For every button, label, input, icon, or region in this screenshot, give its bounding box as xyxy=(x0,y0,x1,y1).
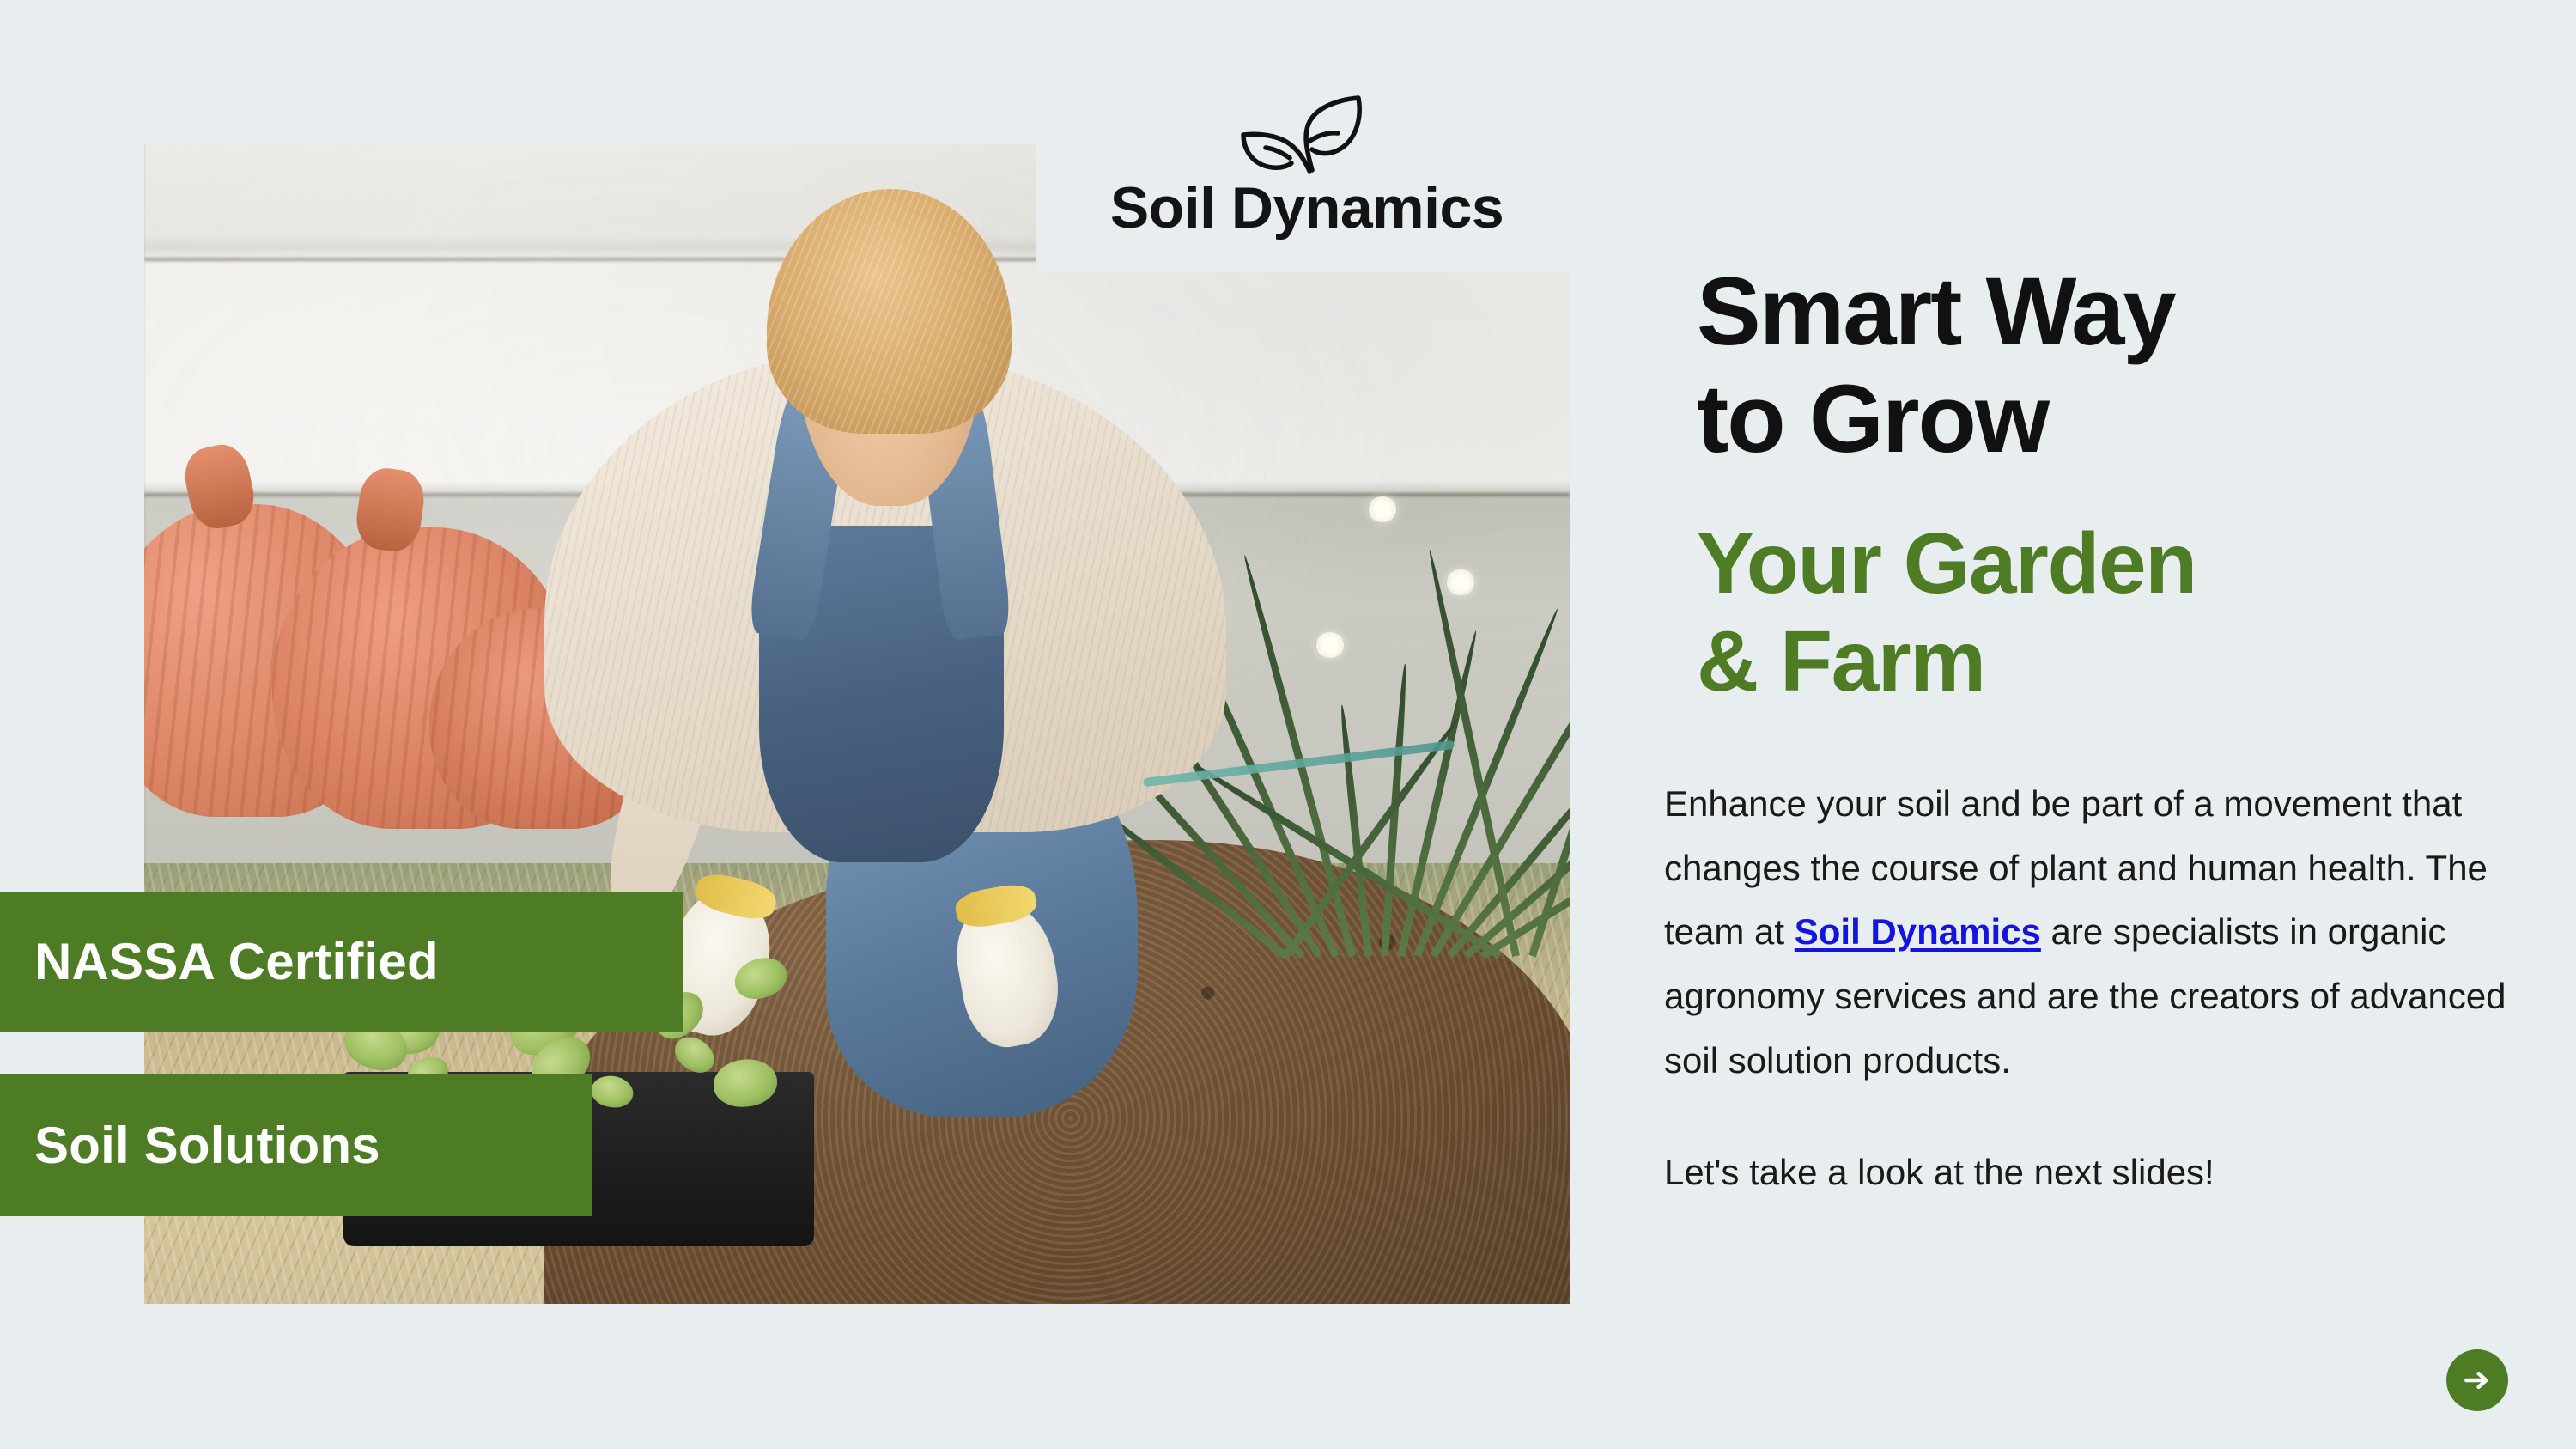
headline-accent-line-2: & Farm xyxy=(1697,612,2523,710)
badge-label: NASSA Certified xyxy=(34,932,439,991)
headline-line-2: to Grow xyxy=(1697,365,2523,472)
next-slide-button[interactable] xyxy=(2446,1349,2508,1411)
content-column: Smart Way to Grow Your Garden & Farm Enh… xyxy=(1664,258,2523,1201)
badge-nassa-certified: NASSA Certified xyxy=(0,892,683,1032)
two-leaf-sprout-icon xyxy=(1230,94,1384,174)
green-foliage xyxy=(1256,435,1570,957)
white-flower xyxy=(1446,569,1475,595)
page-title: Smart Way to Grow xyxy=(1697,258,2523,473)
badge-soil-solutions: Soil Solutions xyxy=(0,1074,592,1216)
closing-text: Let's take a look at the next slides! xyxy=(1664,1143,2523,1201)
brand-name: Soil Dynamics xyxy=(1110,179,1504,237)
seedling-leaf xyxy=(588,1072,636,1111)
arrow-right-icon xyxy=(2461,1364,2494,1397)
badge-label: Soil Solutions xyxy=(34,1116,380,1175)
slide-root: NASSA Certified Soil Solutions Soil Dyna… xyxy=(0,0,2576,1449)
soil-dynamics-link[interactable]: Soil Dynamics xyxy=(1795,911,2041,952)
seedling-leaf xyxy=(731,953,792,1003)
white-flower xyxy=(1315,632,1345,658)
page-subtitle: Your Garden & Farm xyxy=(1697,514,2523,710)
gardener-hair xyxy=(767,189,1012,434)
brand-logo: Soil Dynamics xyxy=(1058,94,1556,266)
body-paragraph: Enhance your soil and be part of a movem… xyxy=(1664,772,2507,1093)
seedling-leaf xyxy=(713,1057,779,1108)
headline-line-1: Smart Way xyxy=(1697,258,2523,365)
white-flower xyxy=(1368,496,1397,522)
headline-accent-line-1: Your Garden xyxy=(1697,514,2523,612)
